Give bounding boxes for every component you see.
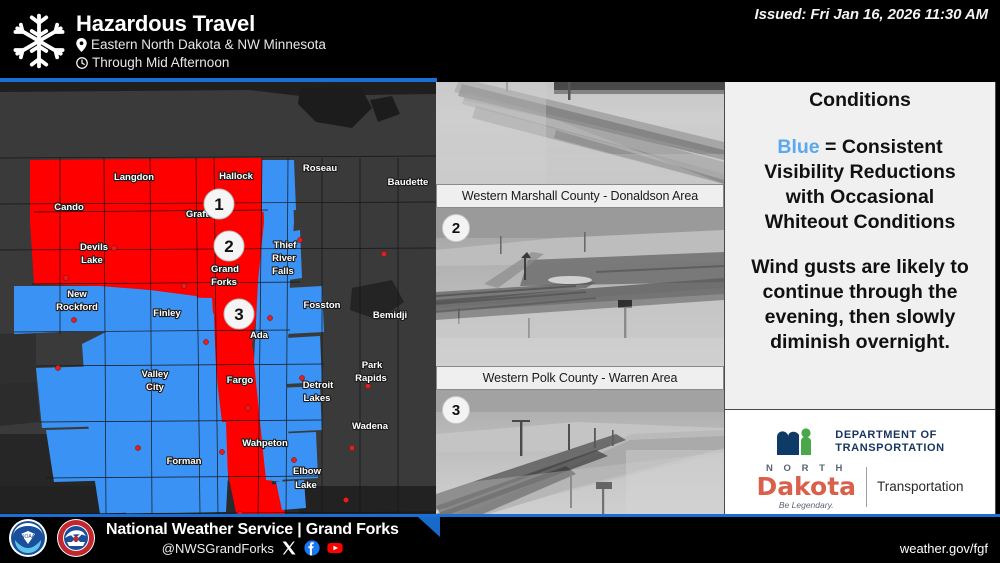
map-label: Grand [211,264,239,275]
nd-tagline: Be Legendary. [756,500,856,511]
legend-blue-line4: Whiteout Conditions [739,210,981,235]
map-label: Hallock [219,171,254,182]
map-label: Bemidji [373,310,407,321]
map-label: Lake [295,480,317,491]
map-label: Cando [54,202,84,213]
mn-logo-icon [775,427,825,457]
nd-transportation-label: Transportation [877,479,964,494]
map-label: Forks [211,277,237,288]
map-marker-label: 2 [224,237,233,256]
legend-blue-line3: with Occasional [739,185,981,210]
map-label: City [146,382,165,393]
camera-badge-3: 3 [442,396,470,424]
mndot-line2: TRANSPORTATION [835,442,944,455]
footer-office-name: National Weather Service | Grand Forks [106,520,399,539]
header-left: Hazardous Travel Eastern North Dakota & … [0,0,432,82]
map-label: Finley [153,308,181,319]
header-timing: Through Mid Afternoon [92,54,229,72]
weather-graphic: LangdonHallockRoseauBaudetteCandoGrafton… [0,0,1000,563]
camera-block-2[interactable]: 2 Western Polk County - Warren Area [436,208,724,390]
legend-note: Wind gusts are likely to continue throug… [739,255,981,355]
map-label: Devils [80,242,108,253]
map-label: Forman [167,456,202,467]
clock-icon [76,57,88,69]
map-label: Wahpeton [242,438,288,449]
nws-seal-icon [56,518,96,558]
camera-2-scene [436,208,724,366]
camera-panel: 1 Western Marshall County - Donaldson Ar… [436,34,724,534]
map-marker-1[interactable]: 1 [204,189,234,219]
map-label: Baudette [388,177,429,188]
map-marker-3[interactable]: 3 [224,299,254,329]
map-label: Ada [250,330,269,341]
info-panel: Red = Near Blizzard Conditions Blue = Co… [724,36,996,534]
map-marker-label: 3 [234,305,243,324]
issued-timestamp: Issued: Fri Jan 16, 2026 11:30 AM [755,6,988,23]
map-label: Rapids [355,373,387,384]
map-label: Lake [81,255,103,266]
map-label: Roseau [303,163,338,174]
camera-3-scene [436,390,724,517]
camera-badge-2: 2 [442,214,470,242]
legend-blue-rest: = Consistent [820,136,943,158]
legend-spacer [739,113,981,135]
legend-note-line1: Wind gusts are likely to [739,255,981,280]
legend-note-line4: diminish overnight. [739,330,981,355]
legend-note-line2: continue through the [739,280,981,305]
map-label: Rockford [56,302,98,313]
map-label: Thief [274,240,298,251]
mndot-label: DEPARTMENT OF TRANSPORTATION [835,429,944,454]
svg-text:NOAA: NOAA [21,534,36,540]
nd-divider [866,467,867,507]
map-label: River [272,253,296,264]
legend-red-line2: Conditions [739,88,981,113]
legend-box: Red = Near Blizzard Conditions Blue = Co… [724,36,996,410]
legend-note-line3: evening, then slowly [739,305,981,330]
snowflake-icon [8,10,70,72]
header-location: Eastern North Dakota & NW Minnesota [91,36,326,54]
youtube-icon[interactable] [327,540,343,556]
mndot-logo: DEPARTMENT OF TRANSPORTATION [775,427,944,457]
header-accent-line [0,78,437,82]
map-pin-icon [76,38,87,52]
header-text: Hazardous Travel Eastern North Dakota & … [76,10,326,72]
noaa-seal-icon: NOAA [8,518,48,558]
map-marker-label: 1 [214,195,223,214]
footer-accent-notch [418,517,440,537]
map-svg: LangdonHallockRoseauBaudetteCandoGrafton… [0,82,436,514]
footer-social-row: @NWSGrandForks [106,540,399,556]
nd-dakota-label: Dakota [756,474,856,500]
nddot-logo: N O R T H Dakota Be Legendary. Transport… [756,463,963,511]
legend-blue-word: Blue [777,136,819,158]
map-label: Fargo [227,375,254,386]
header-timing-row: Through Mid Afternoon [76,54,326,72]
map-label: New [67,289,87,300]
x-twitter-icon[interactable] [281,540,297,556]
legend-blue-line2: Visibility Reductions [739,160,981,185]
map-label: Fosston [304,300,341,311]
nd-wordmark: N O R T H Dakota Be Legendary. [756,463,856,511]
camera-image-3[interactable]: 3 [436,390,724,517]
camera-image-2[interactable]: 2 [436,208,724,366]
legend-blue-line: Blue = Consistent [739,135,981,160]
footer-text: National Weather Service | Grand Forks @… [104,520,399,556]
map-label: Park [362,360,383,371]
map-label: Wadena [352,421,389,432]
camera-caption-2: Western Polk County - Warren Area [436,366,724,390]
map-label: Falls [272,266,294,277]
agency-logo-box: DEPARTMENT OF TRANSPORTATION N O R T H D… [724,410,996,528]
footer-accent-line [0,514,1000,517]
footer-handle: @NWSGrandForks [162,541,274,556]
map-label: Lakes [304,393,331,404]
map-label: Elbow [293,466,322,477]
mndot-line1: DEPARTMENT OF [835,429,944,442]
hazard-map[interactable]: LangdonHallockRoseauBaudetteCandoGrafton… [0,82,436,514]
footer-url: weather.gov/fgf [900,541,988,556]
facebook-icon[interactable] [304,540,320,556]
footer-branding: NOAA National Weather Service | Grand Fo… [8,518,399,558]
map-label: Langdon [114,172,154,183]
header-bar: Hazardous Travel Eastern North Dakota & … [0,0,1000,82]
map-marker-2[interactable]: 2 [214,231,244,261]
footer-bar: NOAA National Weather Service | Grand Fo… [0,514,1000,563]
map-label: Detroit [303,380,334,391]
page-title: Hazardous Travel [76,12,326,36]
header-location-row: Eastern North Dakota & NW Minnesota [76,36,326,54]
map-label: Valley [142,369,170,380]
camera-caption-1: Western Marshall County - Donaldson Area [436,184,724,208]
